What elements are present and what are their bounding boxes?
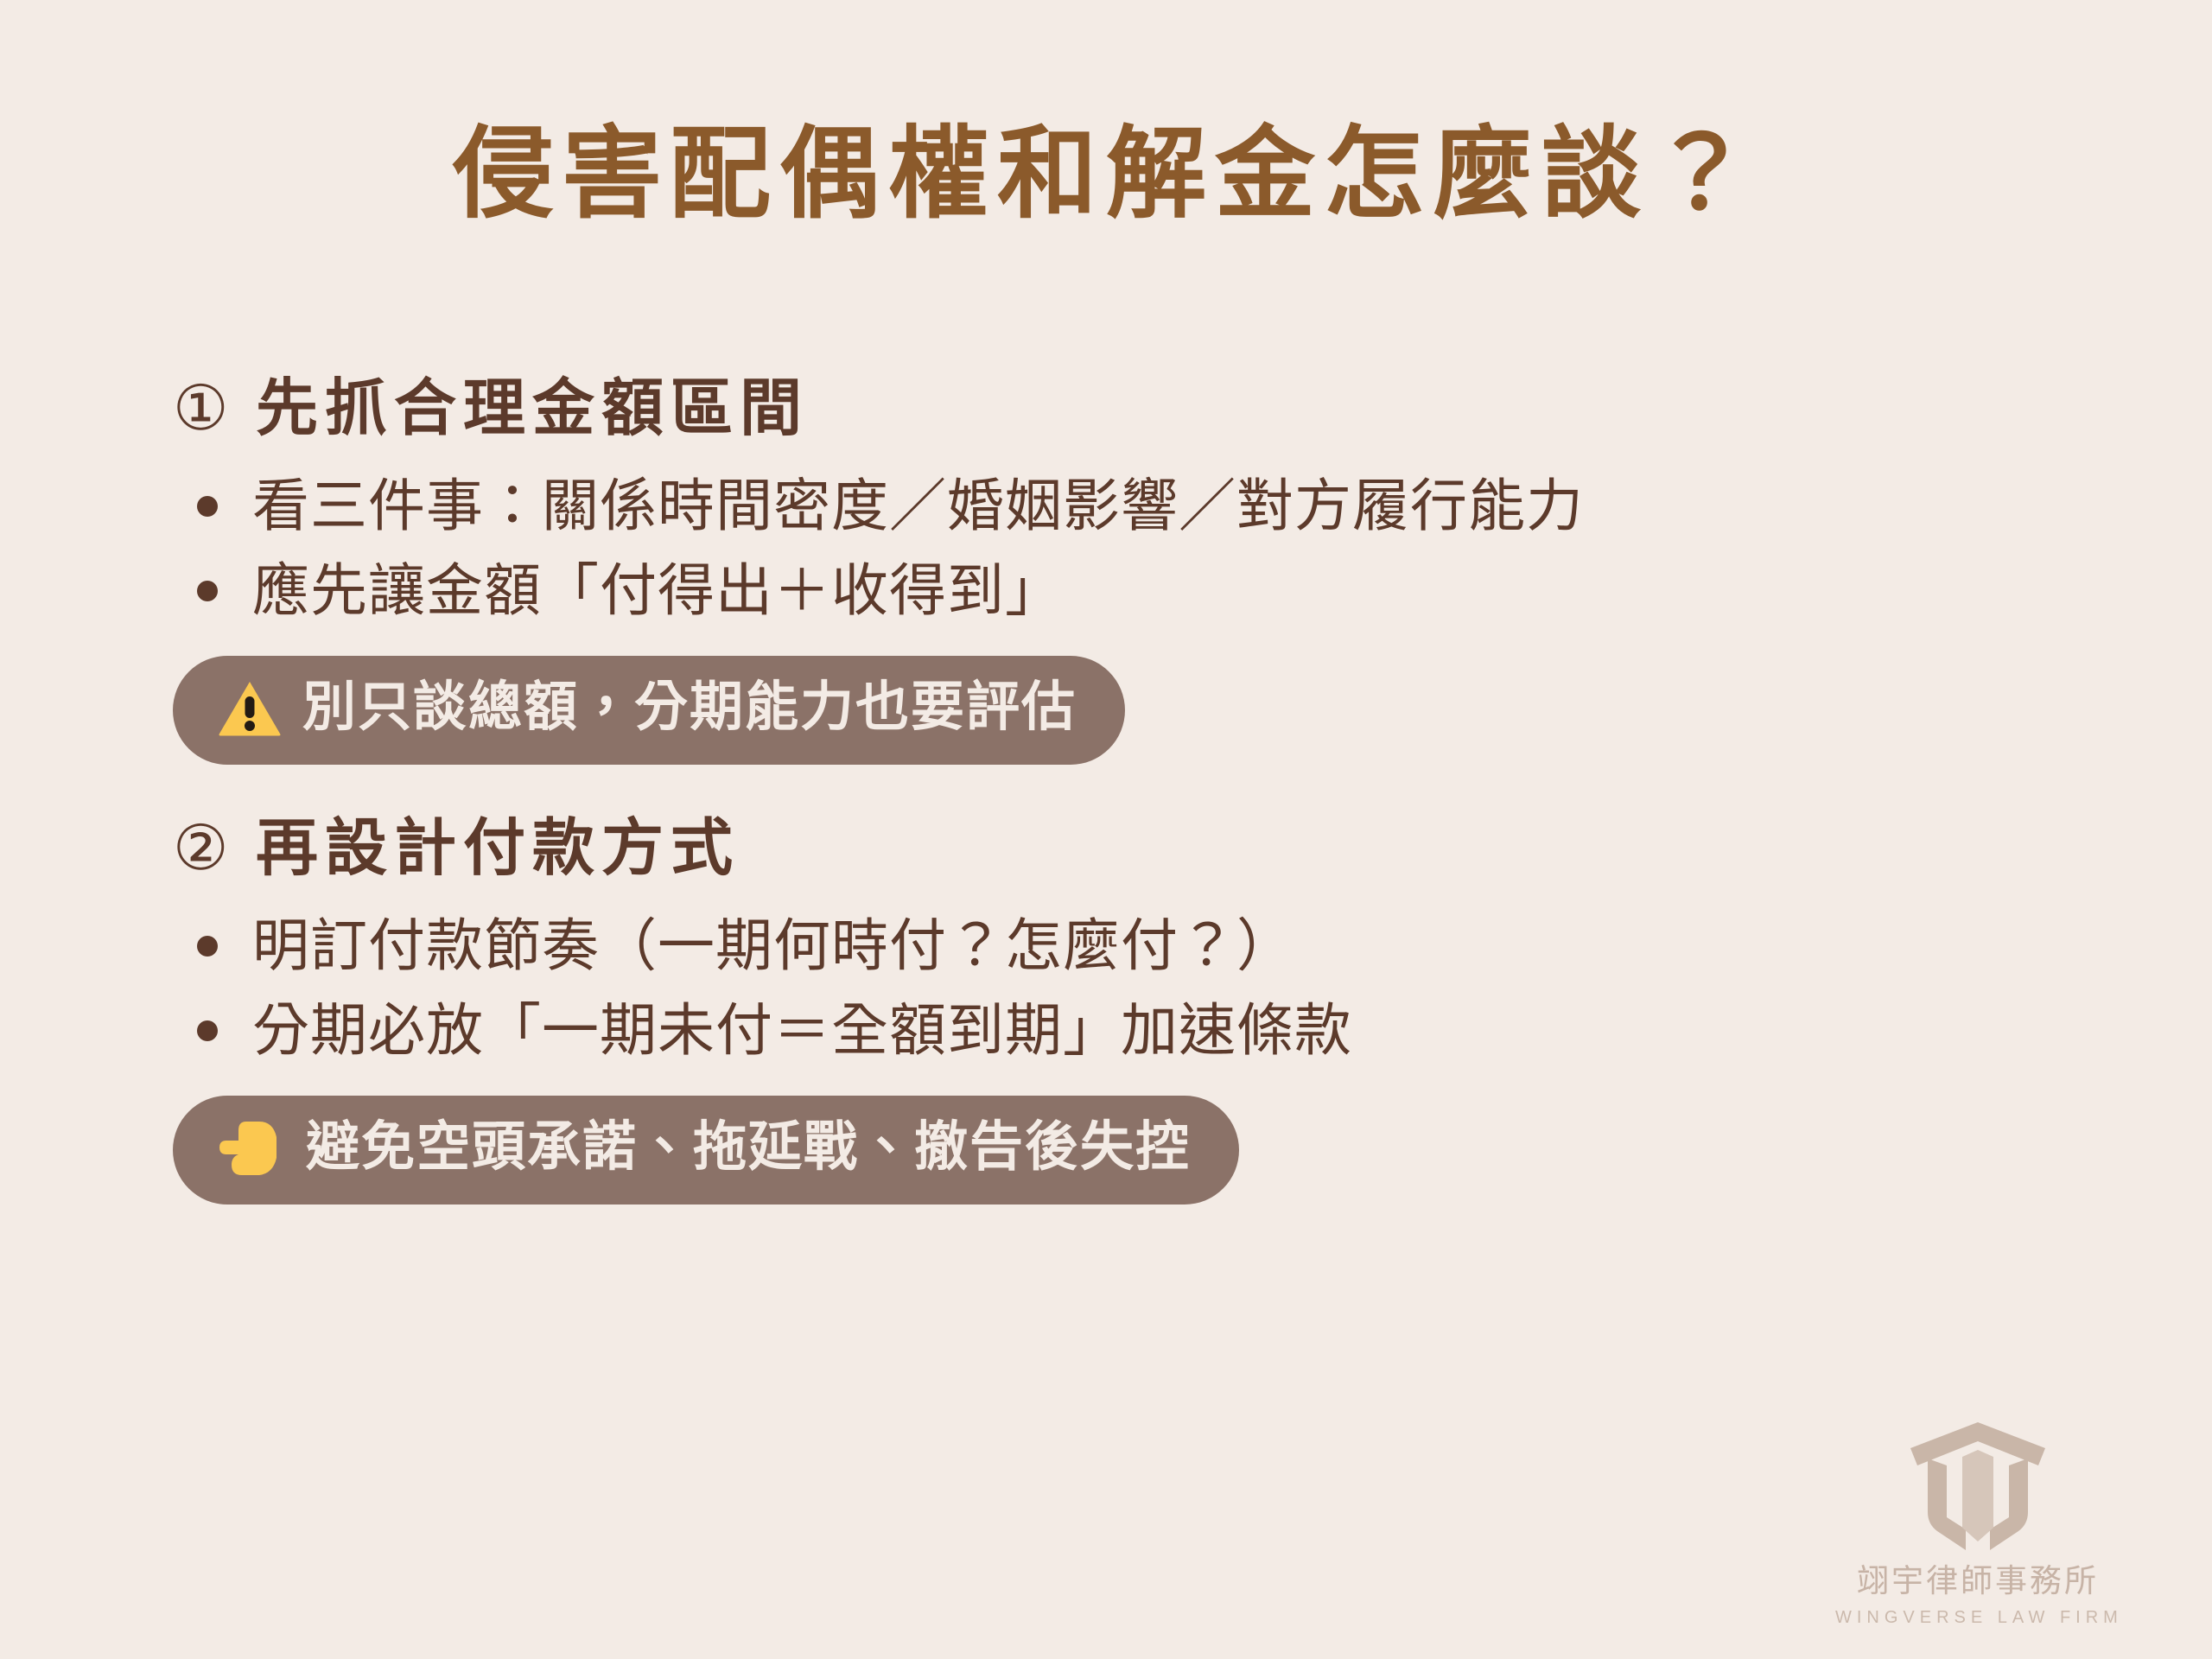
section-number-2: ② (173, 811, 256, 887)
list-item-label: 應先讓金額「付得出＋收得到」 (252, 555, 1063, 629)
pointing-right-hand-icon (218, 1118, 285, 1179)
list-item-label: 分期必放「一期未付＝全額到期」加速條款 (252, 995, 1352, 1069)
firm-name-zh: 翊宇律師事務所 (1835, 1564, 2120, 1599)
list-item: 分期必放「一期未付＝全額到期」加速條款 (173, 995, 2074, 1069)
callout-text-2: 避免空頭承諾、拖延戰、撤告後失控 (306, 1115, 1191, 1182)
section-spacer (173, 772, 2074, 811)
firm-name-en: WINGVERSE LAW FIRM (1835, 1608, 2120, 1628)
page-title: 侵害配偶權和解金怎麼談？ (0, 121, 2212, 232)
warning-triangle-icon (218, 680, 282, 737)
wingverse-w-shield-icon (1909, 1421, 2047, 1552)
section-heading-1: ① 先抓合理金額區間 (173, 372, 2074, 448)
callout-pill-1: 別只談總額，分期能力也要評估 (173, 656, 1125, 765)
section-heading-2: ② 再設計付款方式 (173, 811, 2074, 887)
list-item: 明訂付款節奏（一期何時付？怎麼付？） (173, 910, 2074, 984)
list-item: 應先讓金額「付得出＋收得到」 (173, 555, 2074, 629)
section-number-1: ① (173, 372, 256, 448)
slide-canvas: 侵害配偶權和解金怎麼談？ ① 先抓合理金額區間 看三件事：關係時間密度／婚姻影響… (0, 0, 2212, 1659)
firm-logo: 翊宇律師事務所 WINGVERSE LAW FIRM (1835, 1421, 2120, 1628)
slide-body: ① 先抓合理金額區間 看三件事：關係時間密度／婚姻影響／對方履行能力 應先讓金額… (173, 372, 2074, 1211)
section-title-2: 再設計付款方式 (256, 811, 740, 887)
list-item-label: 看三件事：關係時間密度／婚姻影響／對方履行能力 (252, 470, 1584, 544)
list-item: 看三件事：關係時間密度／婚姻影響／對方履行能力 (173, 470, 2074, 544)
section-title-1: 先抓合理金額區間 (256, 372, 809, 448)
callout-text-1: 別只談總額，分期能力也要評估 (302, 675, 1077, 742)
callout-pill-2: 避免空頭承諾、拖延戰、撤告後失控 (173, 1096, 1239, 1205)
list-item-label: 明訂付款節奏（一期何時付？怎麼付？） (252, 910, 1294, 984)
